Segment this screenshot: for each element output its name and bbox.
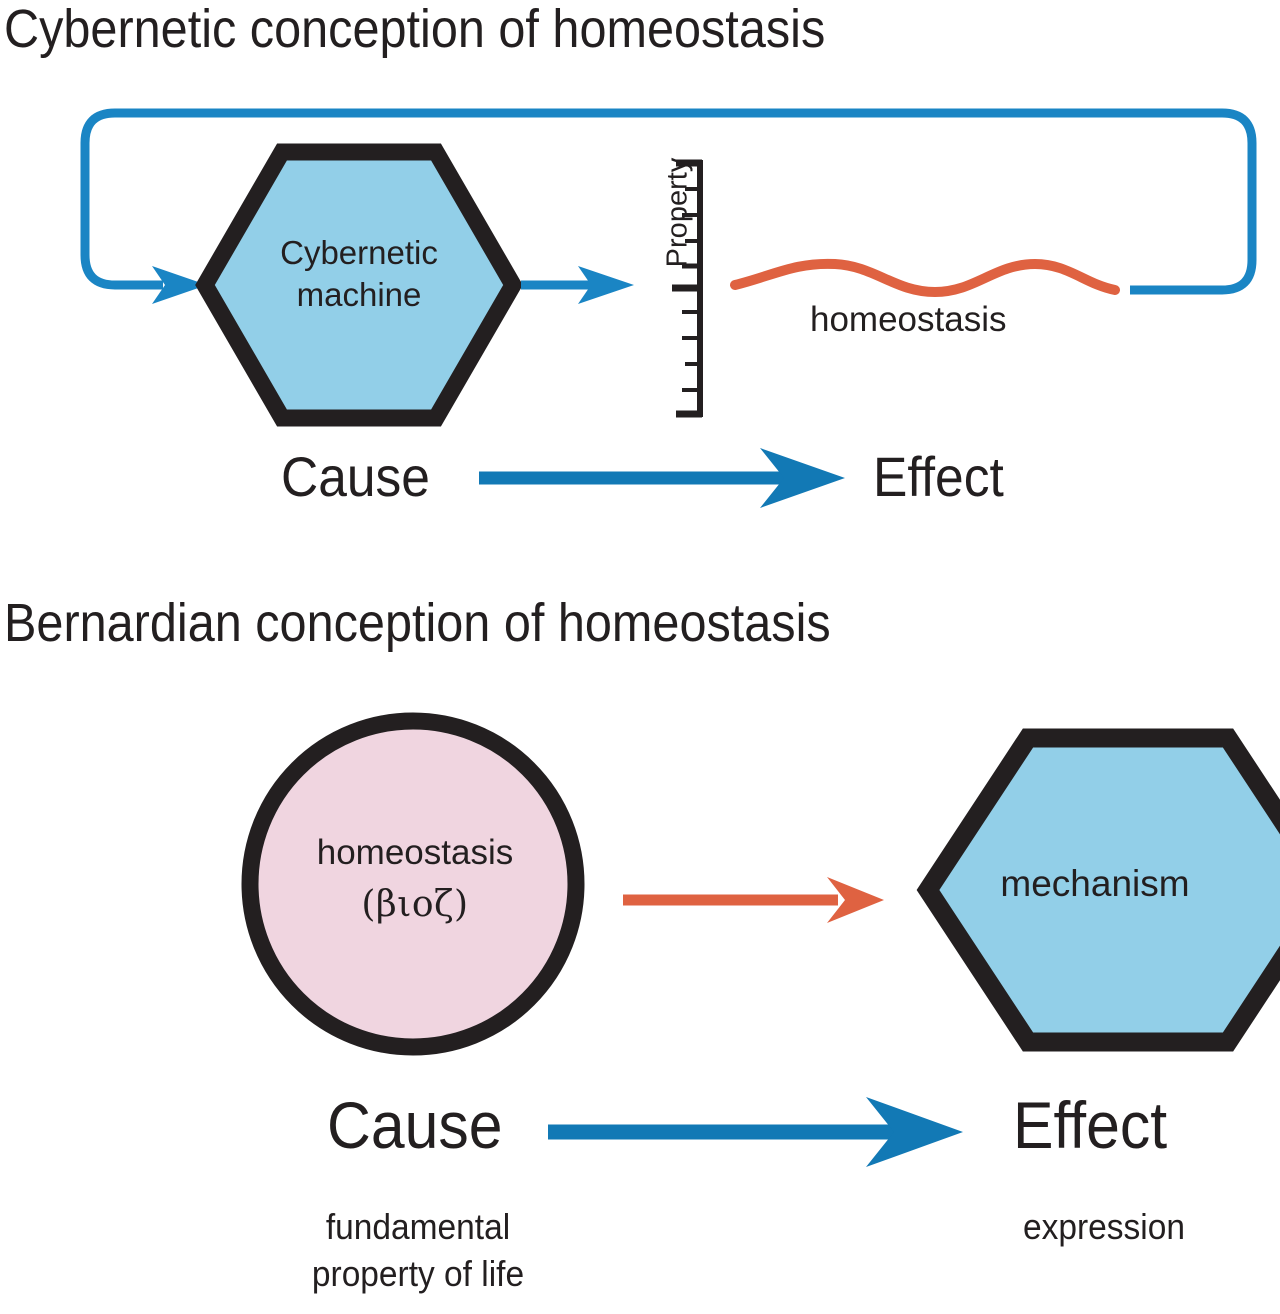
cause-label-panel2: Cause [327,1087,503,1163]
effect-label-panel1: Effect [873,444,1004,509]
panel-title-cybernetic: Cybernetic conception of homeostasis [4,0,825,60]
diagram-canvas: Cybernetic conception of homeostasis [0,0,1280,1314]
panel-title-bernardian: Bernardian conception of homeostasis [4,592,831,654]
hexagon-label-cybernetic-machine: Cybernetic machine [205,232,513,316]
caption-left-line1: fundamental [279,1203,558,1250]
cause-label-panel1: Cause [281,444,430,509]
circle-label-line1: homeostasis [250,827,580,879]
caption-effect-description: expression [965,1203,1244,1250]
caption-left-line2: property of life [279,1250,558,1297]
circle-label-line2-greek: (βιοζ) [250,879,580,931]
circle-label-homeostasis: homeostasis (βιοζ) [250,827,580,931]
homeostasis-wave-icon [735,264,1115,292]
hexagon-label-line1: Cybernetic [205,232,513,274]
property-axis-label: Property [662,133,695,293]
caption-cause-description: fundamental property of life [279,1203,558,1297]
hexagon-label-mechanism: mechanism [930,862,1260,906]
wave-label-homeostasis: homeostasis [810,300,1006,340]
effect-label-panel2: Effect [1013,1087,1167,1163]
hexagon-label-line2: machine [205,274,513,316]
